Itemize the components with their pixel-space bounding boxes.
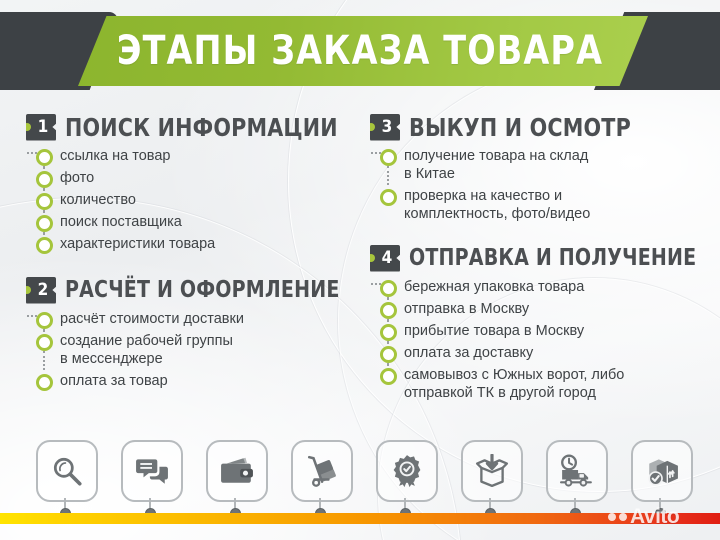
bullet-ring-icon xyxy=(36,374,53,391)
bullet-text: прибытие товара в Москву xyxy=(404,322,710,340)
badge-dot xyxy=(23,286,31,294)
page-title: ЭТАПЫ ЗАКАЗА ТОВАРА xyxy=(25,28,695,74)
section-title: РАСЧЁТ И ОФОРМЛЕНИЕ xyxy=(65,277,340,303)
bullet-text: фото xyxy=(60,169,362,187)
bullet-text: отправка в Москву xyxy=(404,300,710,318)
bullet-text: поиск поставщика xyxy=(60,213,362,231)
avito-watermark: Avito xyxy=(608,503,712,531)
list-item: прибытие товара в Москву xyxy=(370,322,710,340)
section-title: ПОИСК ИНФОРМАЦИИ xyxy=(65,113,338,142)
bullet-connector xyxy=(43,329,45,330)
bullet-text: получение товара на складв Китае xyxy=(404,147,710,183)
list-item: оплата за товар xyxy=(26,372,362,390)
bullet-list: получение товара на складв Китае проверк… xyxy=(370,147,710,223)
badge-dot xyxy=(367,254,375,262)
bullet-text: количество xyxy=(60,191,362,209)
bullet-ring-icon xyxy=(380,324,397,341)
list-item: ссылка на товар xyxy=(26,147,362,165)
bullet-ring-icon xyxy=(380,368,397,385)
bullet-connector xyxy=(387,297,389,298)
bullet-list: ссылка на товар фото количество поиск по… xyxy=(26,147,362,253)
step-number: 3 xyxy=(378,119,393,136)
magnifier-icon xyxy=(36,440,98,502)
bullet-text: проверка на качество икомплектность, фот… xyxy=(404,187,710,223)
chat-bubbles-icon xyxy=(121,440,183,502)
list-item: проверка на качество икомплектность, фот… xyxy=(370,187,710,223)
section-title: ОТПРАВКА И ПОЛУЧЕНИЕ xyxy=(409,245,696,271)
list-item: оплата за доставку xyxy=(370,344,710,362)
bullet-ring-icon xyxy=(380,280,397,297)
bullet-ring-icon xyxy=(380,149,397,166)
watermark-dot xyxy=(608,513,616,521)
bullet-text: создание рабочей группыв мессенджере xyxy=(60,332,362,368)
watermark-dot xyxy=(619,513,627,521)
step-badge: 3 xyxy=(370,114,400,141)
section-4: 4 ОТПРАВКА И ПОЛУЧЕНИЕ бережная упаковка… xyxy=(370,243,710,402)
step-number: 4 xyxy=(378,250,393,267)
watermark-text: Avito xyxy=(630,505,679,529)
list-item: бережная упаковка товара xyxy=(370,278,710,296)
section-header: 1 ПОИСК ИНФОРМАЦИИ xyxy=(26,112,362,142)
bullet-text: характеристики товара xyxy=(60,235,362,253)
list-item: получение товара на складв Китае xyxy=(370,147,710,183)
bullet-ring-icon xyxy=(36,215,53,232)
step-number: 1 xyxy=(34,119,49,136)
section-title: ВЫКУП И ОСМОТР xyxy=(409,113,631,142)
badge-dot xyxy=(23,123,31,131)
badge-dot xyxy=(367,123,375,131)
bullet-connector xyxy=(43,351,45,370)
section-1: 1 ПОИСК ИНФОРМАЦИИ ссылка на товар фото … xyxy=(26,112,362,253)
bullet-ring-icon xyxy=(380,302,397,319)
bullet-connector xyxy=(43,232,45,233)
bullet-ring-icon xyxy=(380,346,397,363)
section-header: 4 ОТПРАВКА И ПОЛУЧЕНИЕ xyxy=(370,243,710,273)
step-number: 2 xyxy=(34,282,49,299)
hand-truck-icon xyxy=(291,440,353,502)
infographic-page: ЭТАПЫ ЗАКАЗА ТОВАРА 1 ПОИСК ИНФОРМАЦИИ с… xyxy=(0,0,720,540)
section-header: 2 РАСЧЁТ И ОФОРМЛЕНИЕ xyxy=(26,275,362,305)
quality-rosette-icon xyxy=(376,440,438,502)
right-column: 3 ВЫКУП И ОСМОТР получение товара на скл… xyxy=(370,112,710,406)
bullet-ring-icon xyxy=(36,312,53,329)
bullet-connector xyxy=(43,210,45,211)
bullet-connector xyxy=(387,166,389,185)
left-column: 1 ПОИСК ИНФОРМАЦИИ ссылка на товар фото … xyxy=(26,112,362,394)
bullet-text: бережная упаковка товара xyxy=(404,278,710,296)
bullet-ring-icon xyxy=(36,171,53,188)
bullet-ring-icon xyxy=(36,334,53,351)
header-banner: ЭТАПЫ ЗАКАЗА ТОВАРА xyxy=(0,12,720,90)
bullet-ring-icon xyxy=(380,189,397,206)
list-item: создание рабочей группыв мессенджере xyxy=(26,332,362,368)
bullet-list: бережная упаковка товара отправка в Моск… xyxy=(370,278,710,402)
boxes-check-icon xyxy=(631,440,693,502)
box-arrow-down-icon xyxy=(461,440,523,502)
list-item: расчёт стоимости доставки xyxy=(26,310,362,328)
bullet-text: самовывоз с Южных ворот, либоотправкой Т… xyxy=(404,366,710,402)
step-badge: 1 xyxy=(26,114,56,141)
bullet-text: оплата за доставку xyxy=(404,344,710,362)
bullet-list: расчёт стоимости доставки создание рабоч… xyxy=(26,310,362,390)
bullet-text: оплата за товар xyxy=(60,372,362,390)
bullet-connector xyxy=(387,319,389,320)
bullet-connector xyxy=(387,363,389,364)
bullet-text: расчёт стоимости доставки xyxy=(60,310,362,328)
bullet-ring-icon xyxy=(36,193,53,210)
list-item: самовывоз с Южных ворот, либоотправкой Т… xyxy=(370,366,710,402)
section-header: 3 ВЫКУП И ОСМОТР xyxy=(370,112,710,142)
section-2: 2 РАСЧЁТ И ОФОРМЛЕНИЕ расчёт стоимости д… xyxy=(26,275,362,390)
icon-strip xyxy=(0,440,720,512)
bullet-connector xyxy=(43,166,45,167)
step-badge: 2 xyxy=(26,277,56,304)
wallet-icon xyxy=(206,440,268,502)
delivery-truck-clock-icon xyxy=(546,440,608,502)
step-badge: 4 xyxy=(370,245,400,272)
bullet-connector xyxy=(387,341,389,342)
list-item: поиск поставщика xyxy=(26,213,362,231)
bullet-ring-icon xyxy=(36,237,53,254)
bullet-text: ссылка на товар xyxy=(60,147,362,165)
list-item: количество xyxy=(26,191,362,209)
list-item: отправка в Москву xyxy=(370,300,710,318)
section-3: 3 ВЫКУП И ОСМОТР получение товара на скл… xyxy=(370,112,710,223)
bullet-connector xyxy=(43,188,45,189)
bullet-ring-icon xyxy=(36,149,53,166)
list-item: характеристики товара xyxy=(26,235,362,253)
list-item: фото xyxy=(26,169,362,187)
